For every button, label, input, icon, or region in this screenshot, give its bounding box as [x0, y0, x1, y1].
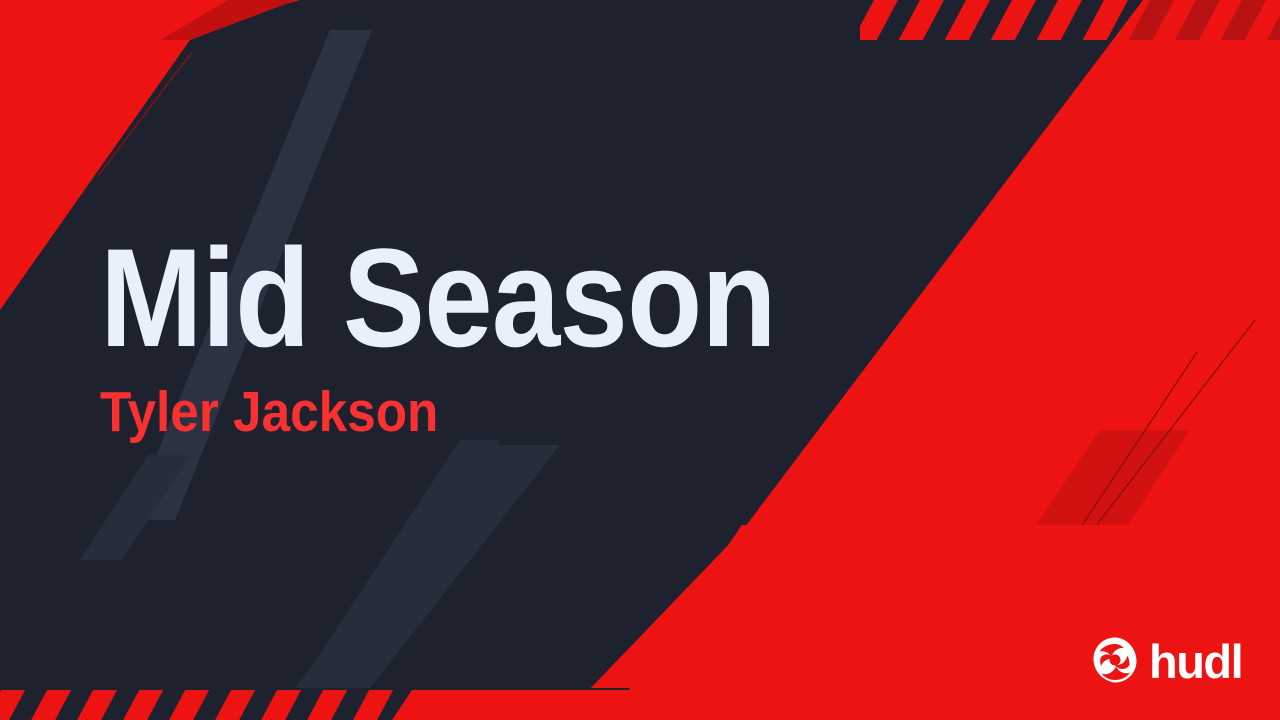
player-name: Tyler Jackson: [100, 384, 791, 441]
hudl-wordmark: hudl: [1149, 638, 1242, 685]
hudl-swirl-icon: [1090, 636, 1140, 686]
hudl-logo: hudl: [1090, 636, 1242, 686]
slide-canvas: Mid Season Tyler Jackson hudl: [0, 0, 1280, 720]
page-title: Mid Season: [100, 228, 776, 368]
title-block: Mid Season Tyler Jackson: [100, 228, 868, 441]
text-layer: Mid Season Tyler Jackson hudl: [0, 0, 1280, 720]
